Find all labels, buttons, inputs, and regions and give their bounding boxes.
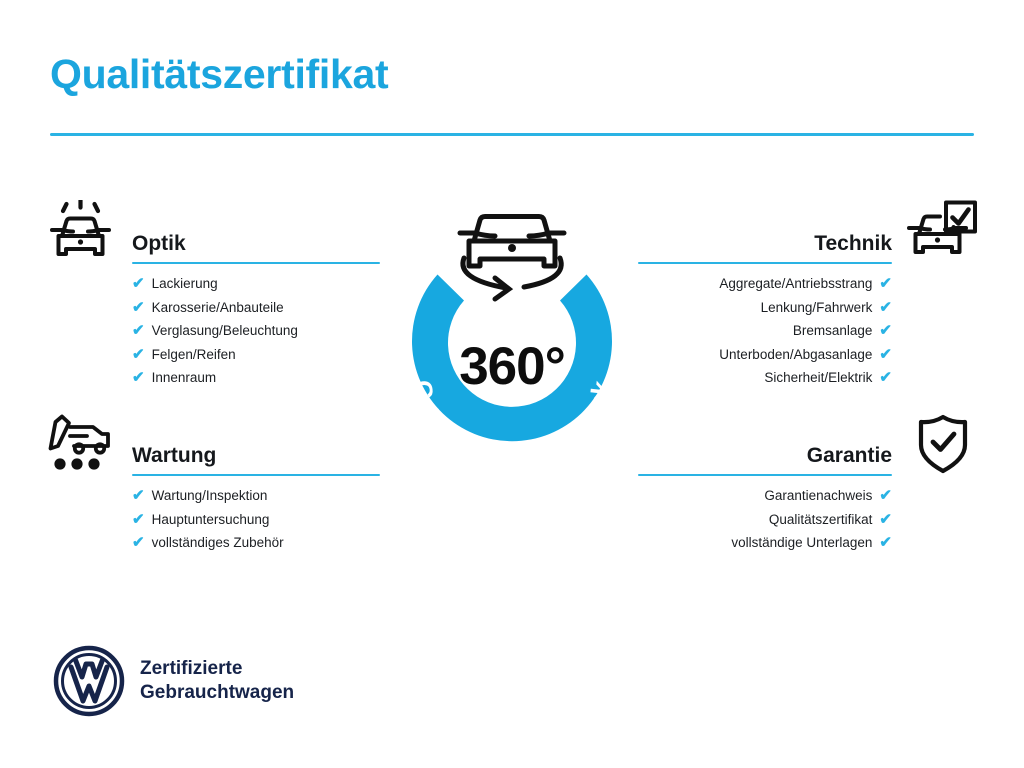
car-shine-icon [44, 200, 118, 266]
car-rotate-icon [460, 217, 564, 300]
vw-brand-line2: Gebrauchtwagen [140, 682, 294, 703]
vw-logo-icon [52, 644, 126, 718]
page-title: Qualitätszertifikat [50, 52, 388, 97]
section-header: Optik [44, 200, 384, 272]
list-item-label: Hauptuntersuchung [152, 512, 270, 527]
list-item: ✔Karosserie/Anbauteile [132, 296, 384, 320]
section-header: Technik [636, 200, 980, 272]
list-item: ✔Felgen/Reifen [132, 343, 384, 367]
list-item-label: Wartung/Inspektion [152, 488, 268, 503]
check-icon: ✔ [132, 300, 145, 315]
check-icon: ✔ [879, 512, 892, 527]
check-icon: ✔ [132, 535, 145, 550]
section-wartung: Wartung ✔Wartung/Inspektion ✔Hauptunters… [44, 412, 384, 555]
certificate-page: Qualitätszertifikat [0, 0, 1024, 768]
list-item: Unterboden/Abgasanlage✔ [636, 343, 892, 367]
list-item-label: Garantienachweis [764, 488, 872, 503]
check-icon: ✔ [132, 323, 145, 338]
check-icon: ✔ [879, 323, 892, 338]
section-title: Technik [814, 232, 892, 256]
check-icon: ✔ [132, 488, 145, 503]
badge-number: 360° [378, 340, 646, 393]
section-header: Wartung [44, 412, 384, 484]
list-item: Aggregate/Antriebsstrang✔ [636, 272, 892, 296]
list-item-label: Aggregate/Antriebsstrang [719, 276, 872, 291]
list-item-label: Innenraum [152, 370, 217, 385]
checklist-garantie: Garantienachweis✔ Qualitätszertifikat✔ v… [636, 484, 892, 555]
list-item-label: Karosserie/Anbauteile [152, 300, 284, 315]
list-item-label: Unterboden/Abgasanlage [719, 347, 872, 362]
list-item: Sicherheit/Elektrik✔ [636, 366, 892, 390]
list-item-label: Lenkung/Fahrwerk [761, 300, 873, 315]
list-item: ✔Hauptuntersuchung [132, 508, 384, 532]
pen-car-service-icon [44, 412, 118, 478]
section-title: Optik [132, 232, 186, 256]
shield-check-icon [906, 412, 980, 478]
list-item-label: Bremsanlage [793, 323, 873, 338]
checklist-optik: ✔Lackierung ✔Karosserie/Anbauteile ✔Verg… [132, 272, 384, 390]
list-item-label: Verglasung/Beleuchtung [152, 323, 298, 338]
checklist-technik: Aggregate/Antriebsstrang✔ Lenkung/Fahrwe… [636, 272, 892, 390]
list-item: ✔Verglasung/Beleuchtung [132, 319, 384, 343]
list-item: Qualitätszertifikat✔ [636, 508, 892, 532]
section-title: Wartung [132, 444, 216, 468]
list-item-label: vollständiges Zubehör [152, 535, 284, 550]
check-icon: ✔ [879, 300, 892, 315]
check-icon: ✔ [879, 535, 892, 550]
check-icon: ✔ [879, 488, 892, 503]
section-divider [638, 262, 892, 265]
list-item: Bremsanlage✔ [636, 319, 892, 343]
section-garantie: Garantie Garantienachweis✔ Qualitätszert… [636, 412, 980, 555]
check-icon: ✔ [879, 347, 892, 362]
list-item: ✔vollständiges Zubehör [132, 531, 384, 555]
check-icon: ✔ [132, 512, 145, 527]
list-item: ✔Lackierung [132, 272, 384, 296]
section-optik: Optik ✔Lackierung ✔Karosserie/Anbauteile… [44, 200, 384, 390]
check-icon: ✔ [132, 370, 145, 385]
section-technik: Technik Aggregate/Antriebsstrang✔ Lenkun… [636, 200, 980, 390]
badge-360-gebrauchtwagen-check: Gebrauchtwagen-Check 360° [378, 196, 646, 496]
title-divider [50, 133, 974, 136]
list-item-label: Sicherheit/Elektrik [764, 370, 872, 385]
list-item: Lenkung/Fahrwerk✔ [636, 296, 892, 320]
check-icon: ✔ [879, 276, 892, 291]
vw-brand-lockup: Zertifizierte Gebrauchtwagen [52, 644, 294, 718]
car-checkbox-icon [906, 200, 980, 266]
section-header: Garantie [636, 412, 980, 484]
list-item: Garantienachweis✔ [636, 484, 892, 508]
vw-brand-line1: Zertifizierte [140, 658, 242, 679]
list-item-label: Lackierung [152, 276, 218, 291]
checklist-wartung: ✔Wartung/Inspektion ✔Hauptuntersuchung ✔… [132, 484, 384, 555]
list-item: ✔Innenraum [132, 366, 384, 390]
vw-brand-text: Zertifizierte Gebrauchtwagen [140, 657, 294, 706]
list-item: vollständige Unterlagen✔ [636, 531, 892, 555]
list-item: ✔Wartung/Inspektion [132, 484, 384, 508]
list-item-label: vollständige Unterlagen [731, 535, 872, 550]
section-divider [132, 262, 380, 265]
list-item-label: Qualitätszertifikat [769, 512, 873, 527]
section-divider [132, 474, 380, 477]
check-icon: ✔ [132, 347, 145, 362]
check-icon: ✔ [879, 370, 892, 385]
check-icon: ✔ [132, 276, 145, 291]
section-divider [638, 474, 892, 477]
section-title: Garantie [807, 444, 892, 468]
list-item-label: Felgen/Reifen [152, 347, 236, 362]
